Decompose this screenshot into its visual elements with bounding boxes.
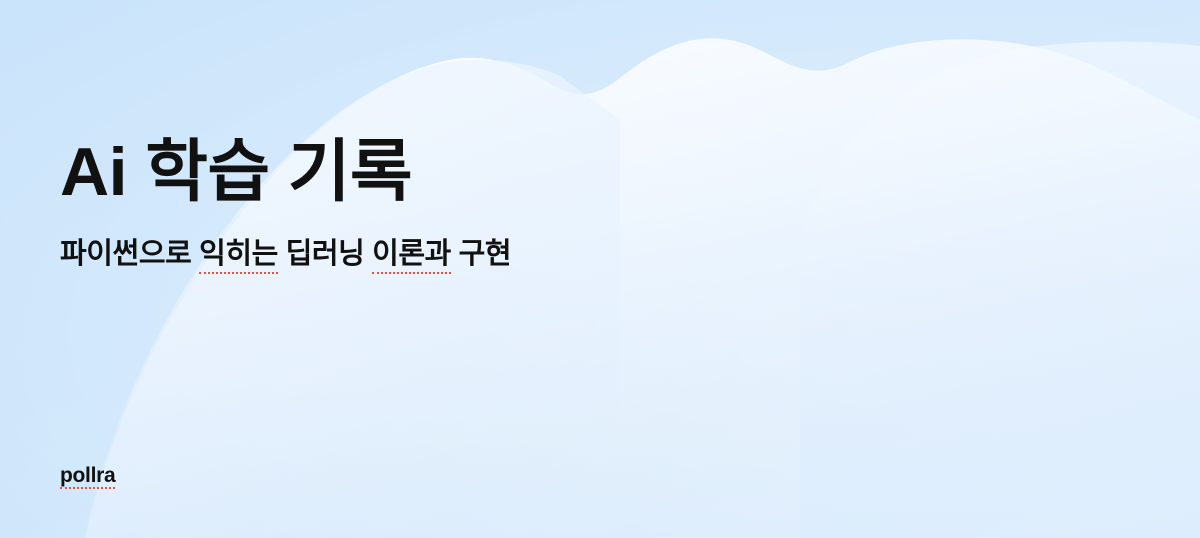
page-title: Ai 학습 기록 (60, 138, 412, 206)
subtitle-segment-0: 파이썬으로 (60, 238, 199, 270)
brand-logo-text: pollra (60, 464, 115, 488)
subtitle-segment-3-misspelled: 이론과 (372, 238, 451, 272)
subtitle-segment-1-misspelled: 익히는 (199, 238, 278, 272)
cover-content: Ai 학습 기록 파이썬으로 익히는 딥러닝 이론과 구현 pollra (0, 0, 1200, 538)
subtitle-segment-2: 딥러닝 (278, 238, 372, 270)
brand-logo: pollra (60, 464, 115, 488)
banner-cover: Ai 학습 기록 파이썬으로 익히는 딥러닝 이론과 구현 pollra (0, 0, 1200, 538)
page-subtitle: 파이썬으로 익히는 딥러닝 이론과 구현 (60, 238, 511, 272)
subtitle-segment-4: 구현 (451, 238, 511, 270)
